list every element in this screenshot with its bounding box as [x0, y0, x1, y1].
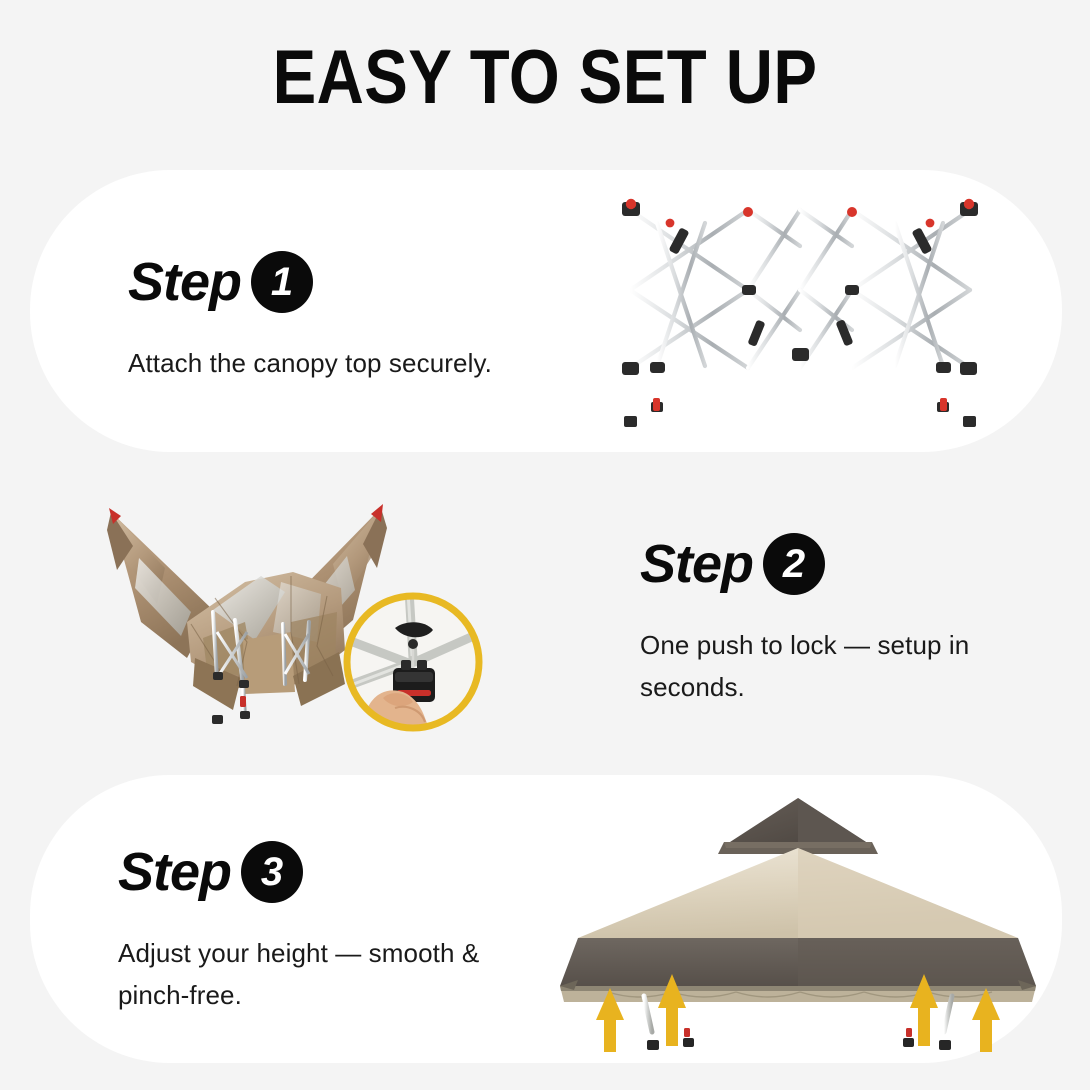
step-2-description: One push to lock — setup in seconds. — [640, 624, 1040, 708]
step-3-description: Adjust your height — smooth & pinch-free… — [118, 932, 538, 1016]
canopy-frame-image — [600, 190, 1000, 430]
page-title: EASY TO SET UP — [76, 36, 1013, 120]
step-2-label: Step — [640, 536, 753, 592]
step-2-heading: Step 2 — [640, 530, 1040, 598]
step-1-text-block: Step 1 Attach the canopy top securely. — [128, 248, 558, 384]
step-3-label: Step — [118, 844, 231, 900]
canopy-folding-illustration — [95, 472, 495, 740]
step-1-heading: Step 1 — [128, 248, 558, 316]
canopy-frame-illustration — [600, 190, 1000, 430]
step-3-text-block: Step 3 Adjust your height — smooth & pin… — [118, 838, 538, 1016]
step-1-number-badge: 1 — [251, 251, 313, 313]
step-1-label: Step — [128, 254, 241, 310]
push-lock-inset — [347, 590, 487, 734]
step-3-heading: Step 3 — [118, 838, 538, 906]
step-3-number: 3 — [261, 852, 283, 892]
step-2-number: 2 — [783, 544, 805, 584]
step-1-description: Attach the canopy top securely. — [128, 342, 558, 384]
step-3-number-badge: 3 — [241, 841, 303, 903]
gazebo-image — [548, 790, 1048, 1058]
gazebo-illustration — [548, 790, 1048, 1058]
infographic-page: EASY TO SET UP Step 1 Attach the canopy … — [0, 0, 1090, 1090]
step-2-text-block: Step 2 One push to lock — setup in secon… — [640, 530, 1040, 708]
step-2-number-badge: 2 — [763, 533, 825, 595]
step-1-number: 1 — [271, 262, 293, 302]
canopy-folding-image — [95, 472, 495, 740]
